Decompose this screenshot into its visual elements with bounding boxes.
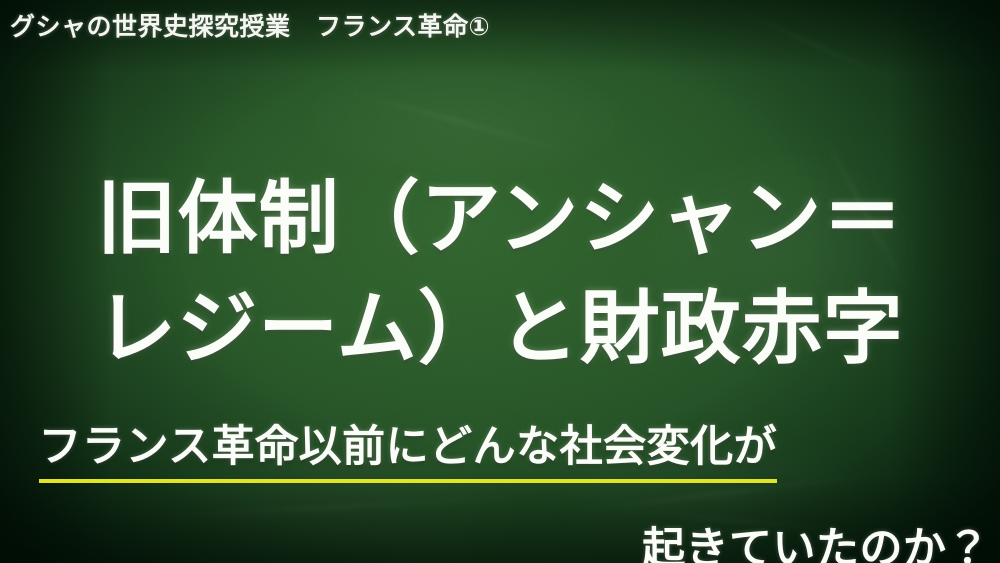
subtitle-line-1: フランス革命以前にどんな社会変化が: [39, 419, 778, 483]
subtitle-row-2: 起きていたのか？: [0, 502, 1000, 563]
slide-title: 旧体制（アンシャン＝ レジーム）と財政赤字: [0, 164, 1000, 385]
title-line-1: 旧体制（アンシャン＝: [0, 164, 1000, 274]
slide-header: グシャの世界史探究授業 フランス革命①: [10, 12, 490, 41]
title-line-2: レジーム）と財政赤字: [0, 274, 1000, 384]
subtitle-row-1: フランス革命以前にどんな社会変化が: [0, 400, 1000, 502]
slide-subtitle: フランス革命以前にどんな社会変化が 起きていたのか？: [0, 400, 1000, 563]
subtitle-line-2: 起きていたのか？: [642, 521, 990, 563]
chalkboard-slide: グシャの世界史探究授業 フランス革命① 旧体制（アンシャン＝ レジーム）と財政赤…: [0, 0, 1000, 563]
